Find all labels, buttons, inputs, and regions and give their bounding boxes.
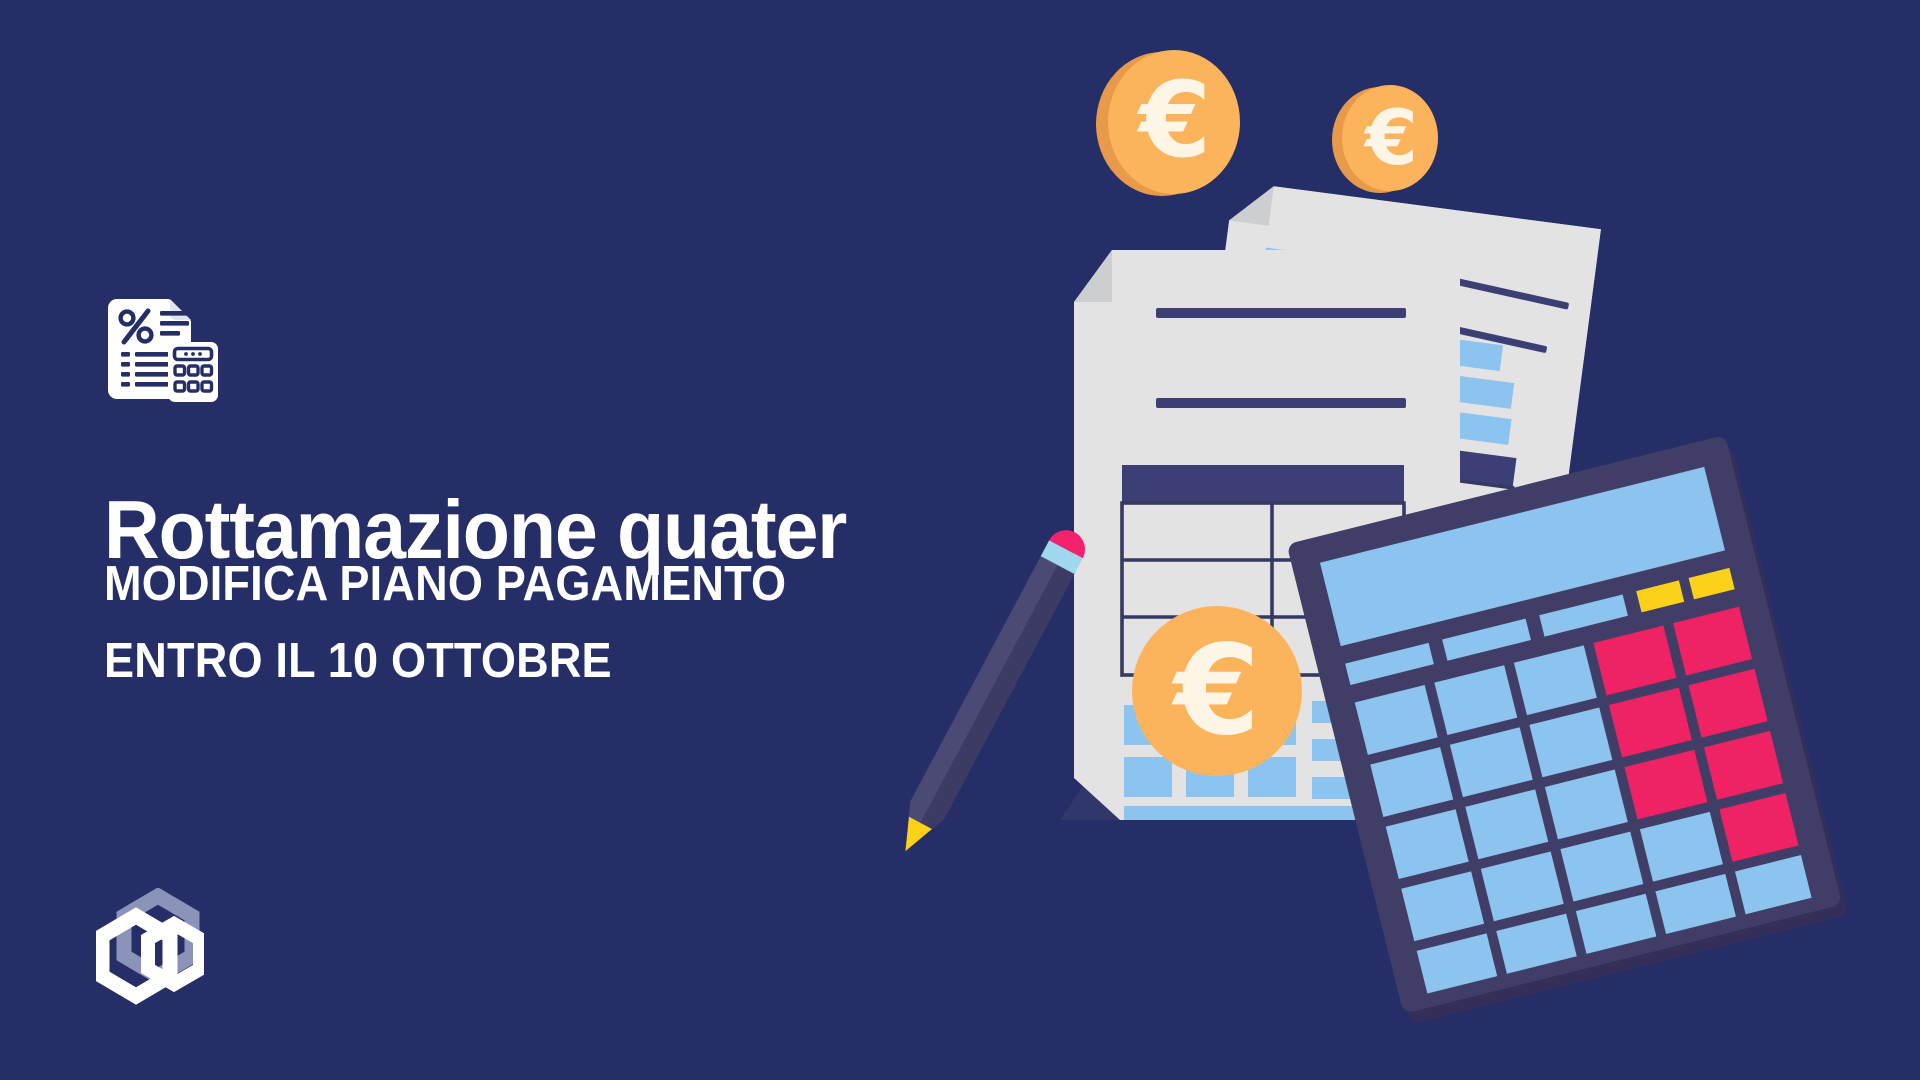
euro-coin-small-top: € <box>1328 80 1446 198</box>
tax-documents-coins-calculator-illustration: € € € <box>980 20 1920 1020</box>
promo-banner: Rottamazione quater MODIFICA PIANO PAGAM… <box>0 0 1920 1080</box>
subheadline-line-2: ENTRO IL 10 OTTOBRE <box>104 633 612 689</box>
euro-symbol: € <box>1337 76 1446 198</box>
euro-symbol: € <box>1100 38 1250 202</box>
document-percent-calculator-icon <box>104 296 222 404</box>
subheadline-line-1: MODIFICA PIANO PAGAMENTO <box>104 556 786 612</box>
interlocking-hexagons-logo <box>96 888 204 1006</box>
pencil <box>840 480 1140 900</box>
euro-symbol: € <box>1132 606 1302 776</box>
euro-coin-large-bottom: € <box>1132 606 1302 776</box>
euro-coin-large-top: € <box>1090 42 1250 202</box>
